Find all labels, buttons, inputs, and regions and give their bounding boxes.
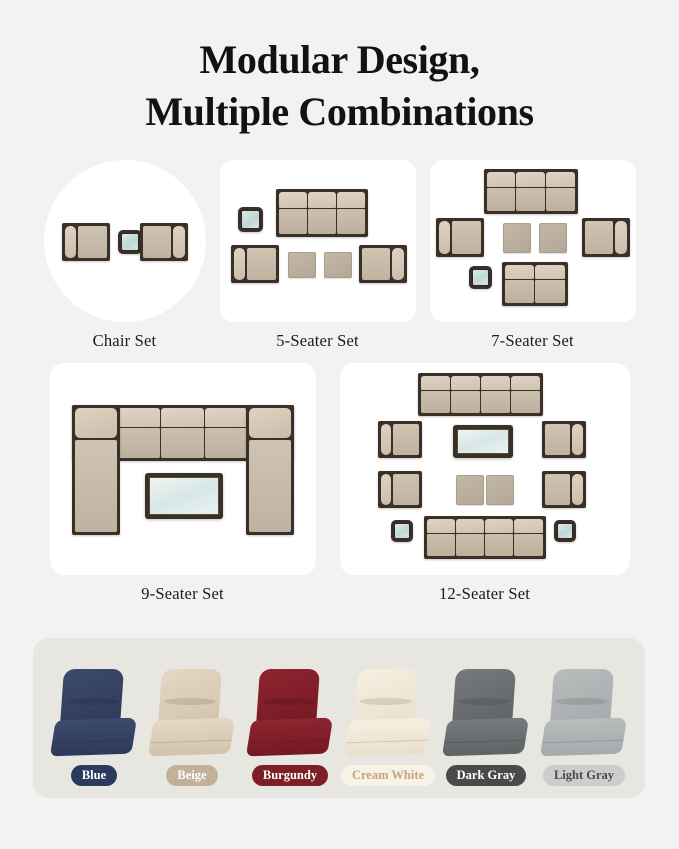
set-card-chair-set[interactable]: [44, 160, 206, 322]
sectional-body: [249, 440, 291, 532]
color-label-pill[interactable]: Blue: [71, 765, 117, 786]
armchair-bolster: [381, 474, 391, 505]
side-table-right: [554, 520, 576, 542]
three-seat-sofa: [276, 189, 368, 237]
layout-diagram-9-seater-set: [50, 363, 316, 575]
cushion-preview: [345, 669, 431, 757]
set-cell-5-seater[interactable]: 5-Seater Set: [220, 160, 416, 351]
ottoman-1: [456, 475, 484, 505]
sofa-back-cushions: [504, 264, 566, 279]
glass-top: [149, 477, 219, 515]
color-label-pill[interactable]: Dark Gray: [446, 765, 527, 786]
color-label-pill[interactable]: Light Gray: [543, 765, 625, 786]
armchair-bolster: [381, 424, 391, 455]
color-label-pill[interactable]: Beige: [166, 765, 217, 786]
sofa-seat-cushions: [504, 279, 566, 304]
sofa-back-cushions: [278, 191, 366, 208]
ottoman-1: [288, 252, 316, 278]
sectional-bolster: [249, 408, 291, 438]
side-table-left: [391, 520, 413, 542]
sectional-body: [75, 440, 117, 532]
cushion-backrest: [550, 669, 614, 725]
cushion-seat: [148, 718, 235, 757]
set-gallery: Chair Set: [0, 160, 679, 604]
armchair-bolster: [572, 474, 582, 505]
four-seat-sofa-bottom: [424, 516, 546, 559]
sectional-right-run: [246, 405, 294, 535]
sofa-seat-cushions: [486, 187, 576, 212]
glass-top: [241, 210, 260, 229]
armchair-body: [585, 221, 614, 254]
cushion-backrest: [354, 669, 418, 725]
set-card-9-seater-set[interactable]: [50, 363, 316, 575]
cushion-seat: [442, 718, 529, 757]
set-card-12-seater-set[interactable]: [340, 363, 630, 575]
ottoman-2: [539, 223, 567, 253]
glass-coffee-table: [145, 473, 223, 519]
page-title: Modular Design, Multiple Combinations: [0, 0, 679, 138]
sofa-seat-cushions: [420, 390, 541, 414]
armchair-body: [545, 474, 571, 505]
ottoman-1: [503, 223, 531, 253]
cushion-backrest: [256, 669, 320, 725]
set-cell-7-seater[interactable]: 7-Seater Set: [430, 160, 636, 351]
set-label-12-seater-set: 12-Seater Set: [439, 584, 530, 604]
side-table: [238, 207, 263, 232]
armchair-bolster: [572, 424, 582, 455]
cushion-preview: [247, 669, 333, 757]
cushion-preview: [149, 669, 235, 757]
armchair-body: [393, 424, 419, 455]
armchair-body: [393, 474, 419, 505]
set-label-chair-set: Chair Set: [93, 331, 157, 351]
cushion-preview: [51, 669, 137, 757]
armchair-left-upper: [378, 421, 422, 458]
color-swatch-beige[interactable]: Beige: [145, 669, 239, 786]
armchair-body: [452, 221, 481, 254]
layout-diagram-5-seater-set: [220, 160, 416, 322]
set-cell-12-seater[interactable]: 12-Seater Set: [340, 363, 630, 604]
cushion-preview: [443, 669, 529, 757]
glass-top: [394, 523, 410, 539]
armchair-bolster: [615, 221, 626, 254]
glass-top: [472, 269, 489, 286]
ottoman-2: [324, 252, 352, 278]
sofa-back-cushions: [420, 375, 541, 390]
title-line-1: Modular Design,: [0, 34, 679, 86]
cushion-backrest: [452, 669, 516, 725]
armchair-body: [545, 424, 571, 455]
armchair-right-lower: [542, 471, 586, 508]
armchair-bolster: [439, 221, 450, 254]
color-swatch-dark-gray[interactable]: Dark Gray: [439, 669, 533, 786]
sectional-left-run: [72, 405, 120, 535]
set-label-5-seater-set: 5-Seater Set: [276, 331, 359, 351]
armchair-bolster: [65, 226, 76, 258]
set-row-bottom: 9-Seater Set: [14, 363, 665, 604]
layout-diagram-7-seater-set: [430, 160, 636, 322]
color-label-pill[interactable]: Burgundy: [252, 765, 328, 786]
color-options-panel: BlueBeigeBurgundyCream WhiteDark GrayLig…: [33, 638, 645, 798]
cushion-seat: [540, 718, 627, 757]
sofa-back-cushions: [486, 171, 576, 187]
layout-diagram-chair-set: [44, 160, 206, 322]
color-swatch-light-gray[interactable]: Light Gray: [537, 669, 631, 786]
color-swatch-burgundy[interactable]: Burgundy: [243, 669, 337, 786]
set-card-7-seater-set[interactable]: [430, 160, 636, 322]
sofa-seat-cushions: [278, 208, 366, 235]
cushion-seat: [344, 718, 431, 757]
sectional-bolster: [75, 408, 117, 438]
title-line-2: Multiple Combinations: [0, 86, 679, 138]
armchair-body: [247, 248, 276, 280]
layout-diagram-12-seater-set: [340, 363, 630, 575]
ottoman-2: [486, 475, 514, 505]
armchair-bolster: [392, 248, 403, 280]
set-card-5-seater-set[interactable]: [220, 160, 416, 322]
armchair-left-lower: [378, 471, 422, 508]
sofa-back-cushions: [426, 518, 544, 533]
four-seat-sofa-top: [418, 373, 543, 416]
color-swatch-cream-white[interactable]: Cream White: [341, 669, 435, 786]
cushion-backrest: [60, 669, 124, 725]
color-swatch-blue[interactable]: Blue: [47, 669, 141, 786]
loveseat: [502, 262, 568, 306]
cushion-backrest: [158, 669, 222, 725]
color-swatch-row: BlueBeigeBurgundyCream WhiteDark GrayLig…: [33, 638, 645, 798]
glass-top: [557, 523, 573, 539]
set-label-9-seater-set: 9-Seater Set: [141, 584, 224, 604]
armchair-left: [231, 245, 279, 283]
armchair-right: [140, 223, 188, 261]
armchair-body: [143, 226, 172, 258]
glass-top: [457, 429, 509, 454]
armchair-bolster: [234, 248, 245, 280]
armchair-right: [582, 218, 630, 257]
set-label-7-seater-set: 7-Seater Set: [491, 331, 574, 351]
color-label-pill[interactable]: Cream White: [341, 765, 435, 786]
side-table: [118, 230, 142, 254]
armchair-bolster: [173, 226, 184, 258]
set-cell-chair[interactable]: Chair Set: [44, 160, 206, 351]
side-table: [469, 266, 492, 289]
sofa-seat-cushions: [426, 533, 544, 557]
cushion-seat: [50, 718, 137, 757]
cushion-seat: [246, 718, 333, 757]
armchair-body: [362, 248, 391, 280]
armchair-body: [78, 226, 107, 258]
cushion-preview: [541, 669, 627, 757]
armchair-right: [359, 245, 407, 283]
armchair-left: [436, 218, 484, 257]
armchair-right-upper: [542, 421, 586, 458]
glass-coffee-table: [453, 425, 513, 458]
three-seat-sofa: [484, 169, 578, 214]
set-cell-9-seater[interactable]: 9-Seater Set: [50, 363, 316, 604]
glass-top: [121, 233, 139, 251]
set-row-top: Chair Set: [14, 160, 665, 351]
armchair-left: [62, 223, 110, 261]
